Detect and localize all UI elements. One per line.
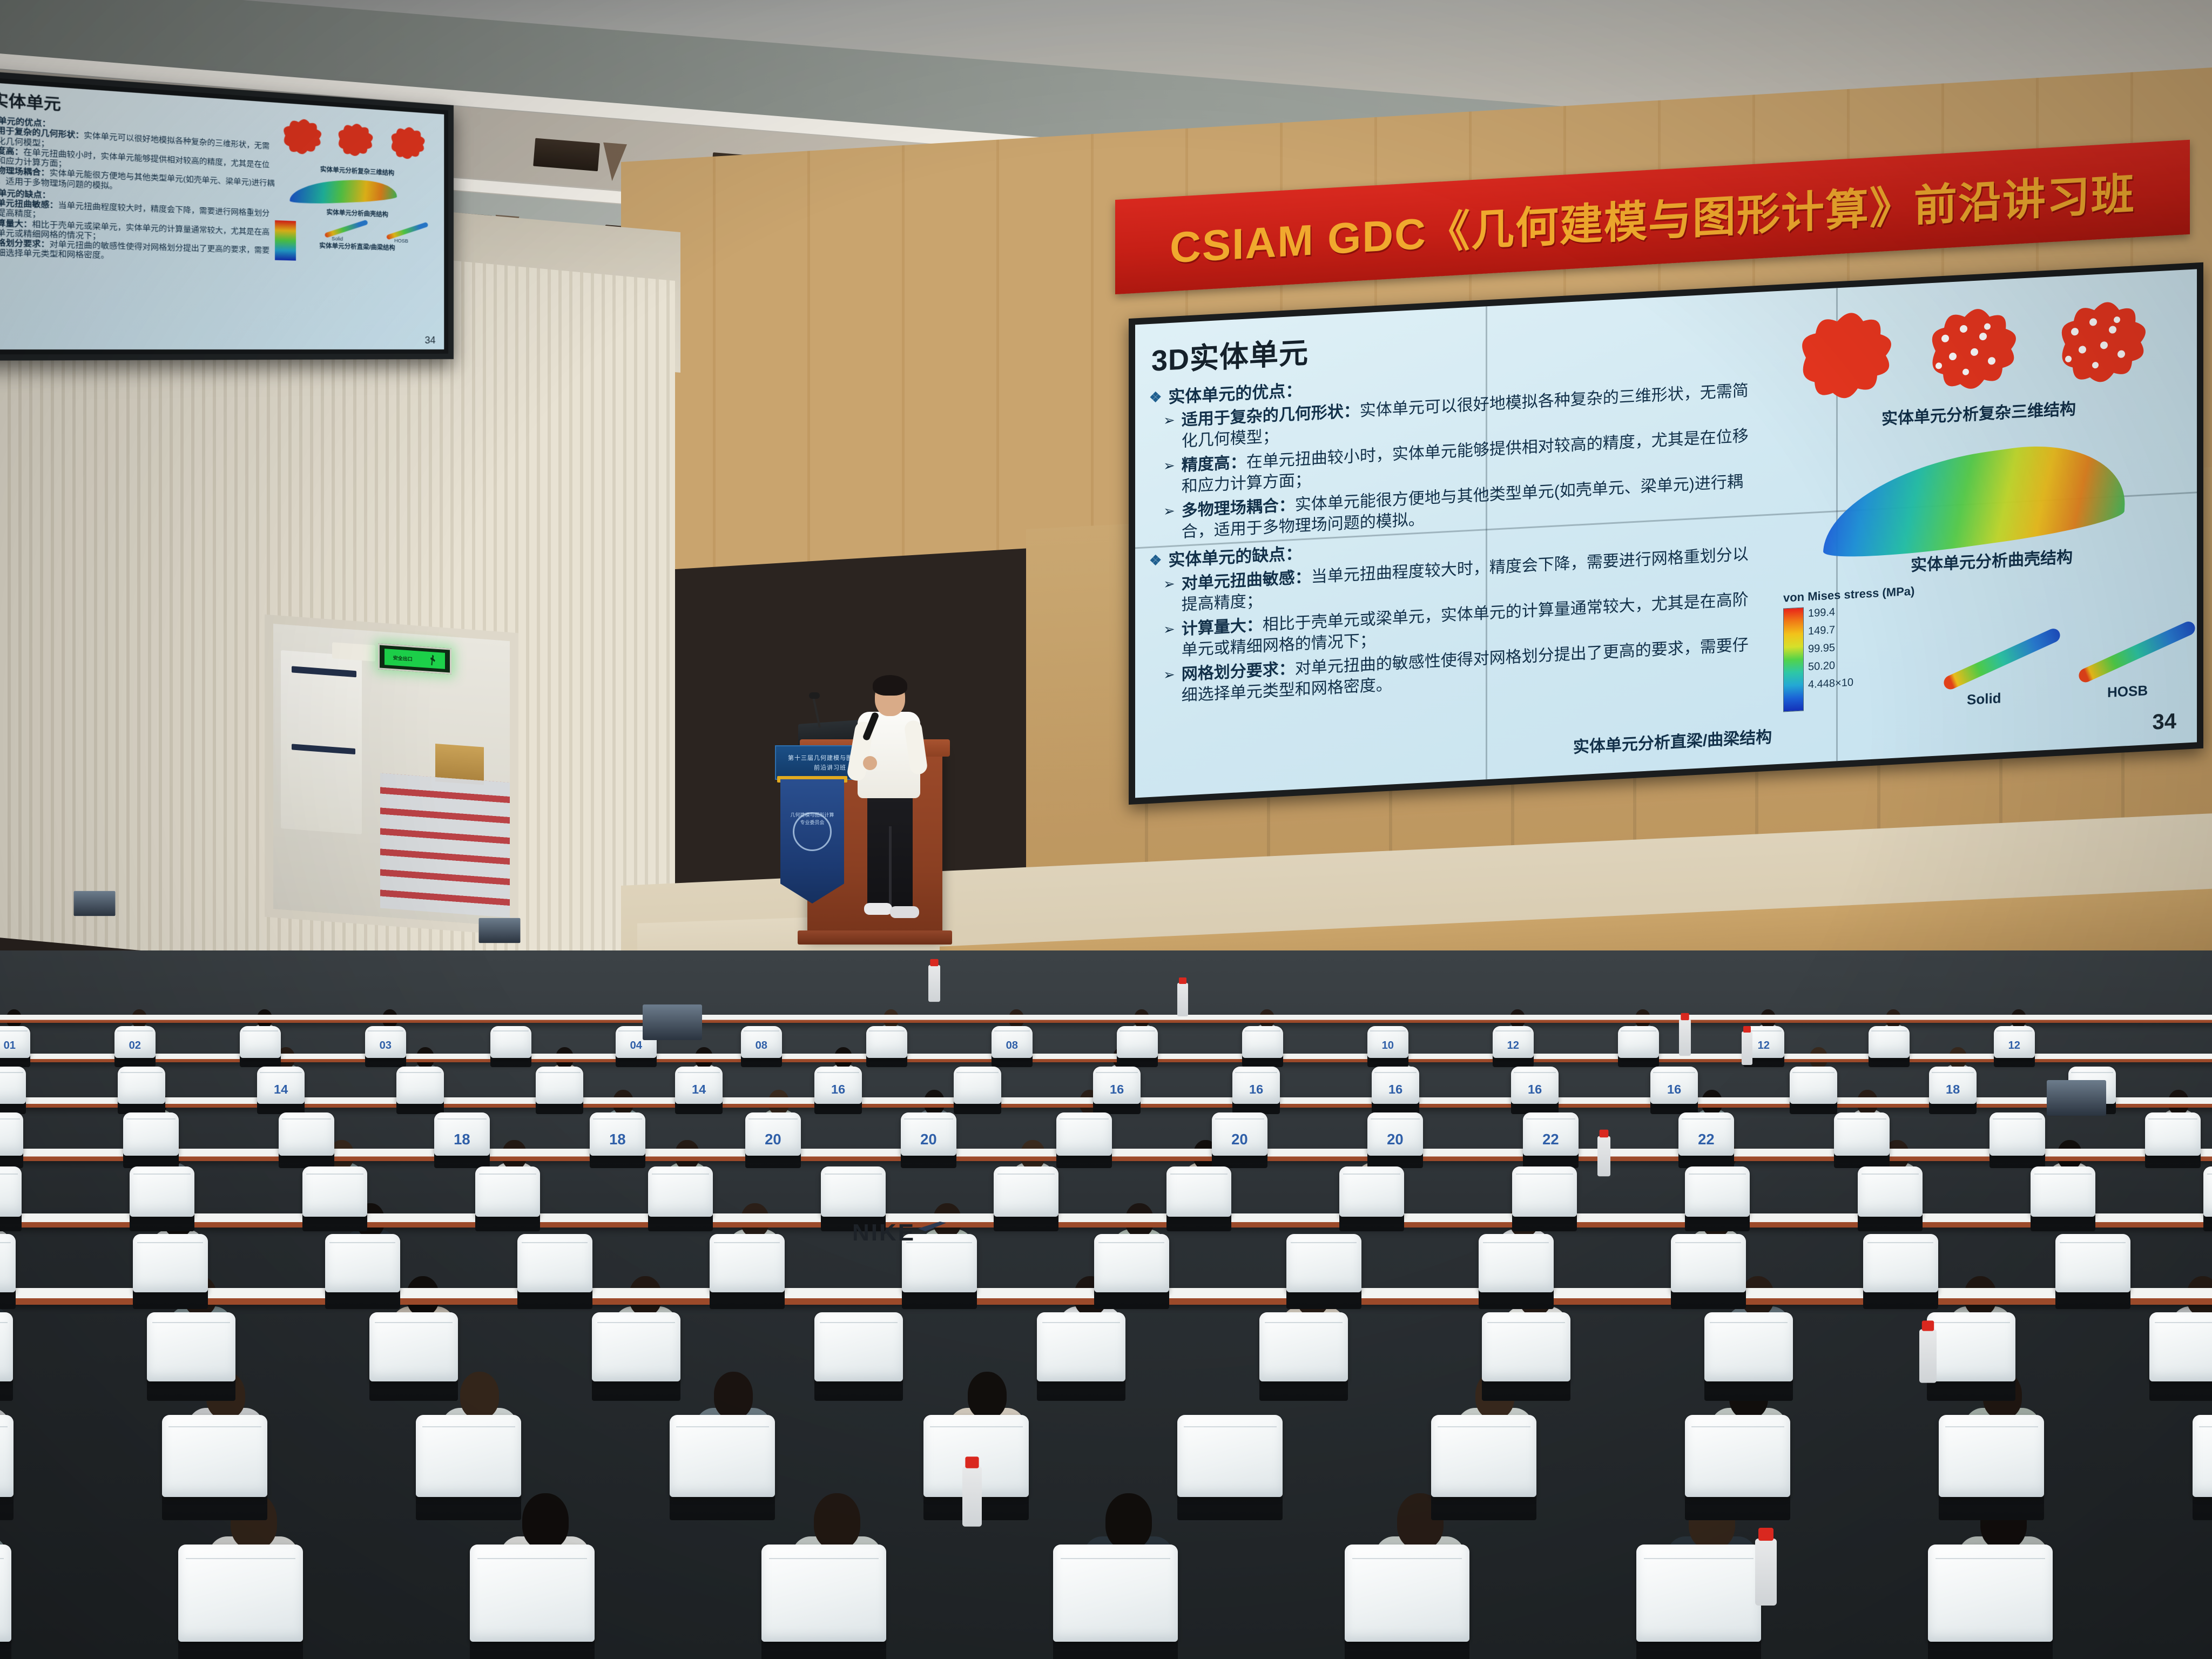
side-slide-page-number: 34: [425, 335, 436, 346]
auditorium-seat[interactable]: [123, 1112, 179, 1168]
auditorium-seat[interactable]: [1939, 1415, 2044, 1520]
seat-number: 16: [1093, 1082, 1141, 1097]
seat-cover: [2055, 1234, 2130, 1292]
auditorium-seat[interactable]: [475, 1166, 540, 1231]
seat-cover: [1242, 1026, 1283, 1058]
seat-cover: [1431, 1415, 1536, 1497]
seat-cover: [1053, 1545, 1178, 1642]
beam-hosb: [2077, 619, 2197, 685]
auditorium-seat[interactable]: [2145, 1112, 2201, 1168]
seat-cover: [325, 1234, 400, 1292]
podium-sign-line2: 前沿讲习班: [814, 763, 846, 772]
auditorium-seat[interactable]: [1790, 1067, 1837, 1114]
auditorium-seat[interactable]: 01: [0, 1026, 30, 1067]
seat-cover: [475, 1166, 540, 1217]
stress-legend: von Mises stress (MPa) 199.4 149.7 99.95…: [1783, 584, 1918, 712]
seat-number: 16: [814, 1082, 862, 1097]
seat-number: 20: [1367, 1131, 1423, 1148]
seat-cover: [1671, 1234, 1746, 1292]
seat-cover: [1928, 1545, 2053, 1642]
seat-cover: 20: [1212, 1112, 1267, 1156]
legend-tick: 149.7: [1808, 621, 1853, 640]
audience-laptop: [74, 891, 116, 916]
seat-cover: [123, 1112, 179, 1156]
legend-tick: 50.20: [1808, 656, 1853, 676]
seat-cover: [1117, 1026, 1158, 1058]
seat-cover: [648, 1166, 713, 1217]
auditorium-seat[interactable]: [240, 1026, 281, 1067]
auditorium-seat[interactable]: 16: [1511, 1067, 1559, 1114]
seat-cover: [147, 1312, 235, 1381]
pennant-text: 几何建模与图形计算 专业委员会: [780, 812, 844, 826]
seat-cover: [1927, 1312, 2015, 1381]
auditorium-seat[interactable]: 02: [114, 1026, 156, 1067]
seat-cover: [814, 1312, 903, 1381]
seat-number: 16: [1511, 1082, 1559, 1097]
seat-cover: [1858, 1166, 1923, 1217]
seat-cover: 20: [901, 1112, 956, 1156]
seat-cover: [2193, 1415, 2212, 1497]
seat-cover: [2145, 1112, 2201, 1156]
seat-cover: 12: [1994, 1026, 2035, 1058]
auditorium-seat[interactable]: [0, 1112, 23, 1168]
seat-number: 14: [257, 1082, 305, 1097]
audience-head: [714, 1372, 753, 1419]
audience-head: [1105, 1493, 1152, 1549]
legend-tick: 99.95: [1808, 638, 1853, 658]
auditorium-seat[interactable]: [1512, 1166, 1577, 1231]
seat-number: 12: [1493, 1040, 1534, 1052]
auditorium-seat[interactable]: [1990, 1112, 2045, 1168]
auditorium-seat[interactable]: 16: [1232, 1067, 1280, 1114]
seat-number: 16: [1650, 1082, 1698, 1097]
seat-number: 08: [741, 1040, 782, 1052]
fridge-handle: [292, 666, 356, 677]
seat-cover: [0, 1545, 11, 1642]
seat-cover: 20: [1367, 1112, 1423, 1156]
seat-cover: 22: [1523, 1112, 1579, 1156]
side-monitor: 3D实体单元 ❖实体单元的优点： ➢适用于复杂的几何形状：实体单元可以很好地模拟…: [0, 68, 454, 360]
arrow-bullet-icon: ➢: [1163, 664, 1175, 707]
auditorium-seat[interactable]: [470, 1545, 595, 1659]
side-slide-body: ❖实体单元的优点： ➢适用于复杂的几何形状：实体单元可以很好地模拟各种复杂的三维…: [0, 114, 275, 265]
seat-cover: 18: [1929, 1067, 1977, 1104]
auditorium-seat[interactable]: 18: [1929, 1067, 1977, 1114]
auditorium-seat[interactable]: [1259, 1312, 1348, 1401]
seat-cover: [1512, 1166, 1577, 1217]
seat-number: 12: [1994, 1040, 2035, 1052]
auditorium-seat[interactable]: 03: [365, 1026, 406, 1067]
seat-cover: [490, 1026, 531, 1058]
seat-cover: [118, 1067, 165, 1104]
auditorium-seat[interactable]: [954, 1067, 1001, 1114]
auditorium-seat[interactable]: 20: [745, 1112, 801, 1168]
auditorium-seat[interactable]: [1928, 1545, 2053, 1659]
emergency-light: [332, 642, 375, 662]
seat-cover: [1704, 1312, 1793, 1381]
auditorium-seat[interactable]: 20: [1212, 1112, 1267, 1168]
auditorium-seat[interactable]: [325, 1234, 400, 1309]
slide-page-number: 34: [2153, 709, 2177, 734]
auditorium-seat[interactable]: [592, 1312, 680, 1401]
exit-sign-label: 安全出口: [393, 654, 413, 663]
audience-laptop: [643, 1004, 702, 1040]
seat-cover: [2149, 1312, 2212, 1381]
auditorium-seat[interactable]: [0, 1312, 13, 1401]
water-bottle: [1919, 1329, 1937, 1382]
seat-number: 16: [1232, 1082, 1280, 1097]
audience-head: [814, 1493, 860, 1549]
auditorium-seat[interactable]: 16: [814, 1067, 862, 1114]
arrow-bullet-icon: ➢: [1163, 410, 1175, 453]
seat-cover: [1618, 1026, 1659, 1058]
seat-cover: 01: [0, 1026, 30, 1058]
auditorium-seat[interactable]: [369, 1312, 458, 1401]
auditorium-seat[interactable]: [994, 1166, 1058, 1231]
auditorium-seat[interactable]: 10: [1367, 1026, 1408, 1067]
seat-cover: [0, 1415, 14, 1497]
water-bottle: [1597, 1136, 1610, 1176]
auditorium-seat[interactable]: [1671, 1234, 1746, 1309]
auditorium-seat[interactable]: 08: [741, 1026, 782, 1067]
auditorium-seat[interactable]: [1618, 1026, 1659, 1067]
auditorium-seat[interactable]: [130, 1166, 194, 1231]
auditorium-seat[interactable]: [302, 1166, 367, 1231]
figure-complex-3d-structures: 实体单元分析复杂三维结构: [1773, 284, 2184, 441]
seat-cover: [954, 1067, 1001, 1104]
auditorium-seat[interactable]: 12: [1994, 1026, 2035, 1067]
auditorium-seat[interactable]: [2193, 1415, 2212, 1520]
seat-cover: [866, 1026, 907, 1058]
seat-cover: [240, 1026, 281, 1058]
auditorium-seat[interactable]: [396, 1067, 444, 1114]
auditorium-seat[interactable]: [1636, 1545, 1761, 1659]
auditorium-seat[interactable]: 14: [675, 1067, 723, 1114]
auditorium-seat[interactable]: [536, 1067, 583, 1114]
seat-cover: [1286, 1234, 1361, 1292]
seat-cover: [162, 1415, 267, 1497]
nike-shirt-logo: NIKE: [852, 1219, 915, 1246]
auditorium-seat[interactable]: [1431, 1415, 1536, 1520]
auditorium-seat[interactable]: [1053, 1545, 1178, 1659]
auditorium-seat[interactable]: [866, 1026, 907, 1067]
auditorium-seat[interactable]: 16: [1650, 1067, 1698, 1114]
speaker-leg-split: [889, 826, 892, 907]
seat-number: 02: [114, 1040, 156, 1052]
seat-cover: [1056, 1112, 1112, 1156]
water-bottle: [1177, 983, 1188, 1016]
auditorium-seat[interactable]: [133, 1234, 208, 1309]
seat-cover: [0, 1234, 16, 1292]
seat-cover: [1990, 1112, 2045, 1156]
auditorium-seat[interactable]: 20: [901, 1112, 956, 1168]
seat-cover: [1482, 1312, 1570, 1381]
auditorium-seat[interactable]: [178, 1545, 303, 1659]
seat-cover: 14: [257, 1067, 305, 1104]
seat-cover: 08: [992, 1026, 1033, 1058]
seat-number: 04: [616, 1040, 657, 1052]
seat-cover: [1863, 1234, 1938, 1292]
auditorium-seat[interactable]: [0, 1166, 22, 1231]
seat-cover: [536, 1067, 583, 1104]
seat-cover: [279, 1112, 334, 1156]
pennant: 几何建模与图形计算 专业委员会: [780, 779, 844, 903]
seat-number: 22: [1678, 1131, 1734, 1148]
auditorium-seat[interactable]: [2031, 1166, 2095, 1231]
seat-cover: [1790, 1067, 1837, 1104]
seat-cover: [133, 1234, 208, 1292]
auditorium-seat[interactable]: [0, 1415, 14, 1520]
auditorium-seat[interactable]: [648, 1166, 713, 1231]
auditorium-seat[interactable]: [670, 1415, 775, 1520]
seat-cover: [416, 1415, 521, 1497]
seat-cover: [470, 1545, 595, 1642]
auditorium-seat[interactable]: [1704, 1312, 1793, 1401]
seat-cover: [1166, 1166, 1231, 1217]
audience-laptop: [479, 918, 521, 943]
seat-cover: [178, 1545, 303, 1642]
auditorium-seat[interactable]: [2203, 1166, 2212, 1231]
auditorium-seat[interactable]: [1863, 1234, 1938, 1309]
exit-sign: 安全出口: [378, 643, 451, 675]
beam-label-hosb: HOSB: [2107, 682, 2148, 701]
seat-cover: 10: [1367, 1026, 1408, 1058]
auditorium-seat[interactable]: 08: [992, 1026, 1033, 1067]
seat-number: 10: [1367, 1040, 1408, 1052]
seat-cover: 12: [1493, 1026, 1534, 1058]
auditorium-seat[interactable]: [0, 1234, 16, 1309]
seat-cover: [1636, 1545, 1761, 1642]
auditorium-seat[interactable]: [416, 1415, 521, 1520]
arrow-bullet-icon: ➢: [1163, 501, 1175, 544]
auditorium-seat[interactable]: 14: [257, 1067, 305, 1114]
auditorium-seat[interactable]: [0, 1067, 26, 1114]
presentation-slide: 3D实体单元 ❖ 实体单元的优点： ➢ 适用于复杂的几何形状：实体单元可以很好地…: [1135, 269, 2197, 798]
auditorium-seat[interactable]: 16: [1093, 1067, 1141, 1114]
legend-tick: 199.4: [1808, 603, 1853, 623]
speaker-hand: [863, 756, 877, 770]
side-monitor-slide: 3D实体单元 ❖实体单元的优点： ➢适用于复杂的几何形状：实体单元可以很好地模拟…: [0, 80, 444, 349]
podium-base: [798, 930, 952, 945]
side-figure-blobs: 实体单元分析复杂三维结构 实体单元分析曲壳结构 Solid HOSB 实体单元分…: [271, 110, 440, 187]
seat-cover: [710, 1234, 785, 1292]
auditorium-seat[interactable]: [1927, 1312, 2015, 1401]
seat-number: 08: [992, 1040, 1033, 1052]
seat-cover: [0, 1067, 26, 1104]
auditorium-seat[interactable]: [162, 1415, 267, 1520]
seat-cover: [1685, 1415, 1790, 1497]
water-bottle: [928, 965, 940, 1002]
auditorium-seat[interactable]: 22: [1523, 1112, 1579, 1168]
seat-cover: 02: [114, 1026, 156, 1058]
seat-number: 20: [901, 1131, 956, 1148]
figure-curved-shell: 实体单元分析曲壳结构: [1803, 432, 2181, 576]
legend-title: von Mises stress (MPa): [1783, 584, 1918, 605]
seat-cover: [994, 1166, 1058, 1217]
fridge-handle: [292, 744, 355, 754]
auditorium-seat[interactable]: 16: [1372, 1067, 1419, 1114]
seat-number: 03: [365, 1040, 406, 1052]
speaker-shoe: [864, 903, 892, 915]
audience-head: [522, 1493, 569, 1549]
seat-cover: [761, 1545, 886, 1642]
seat-cover: [0, 1166, 22, 1217]
auditorium-seat[interactable]: 18: [434, 1112, 490, 1168]
auditorium-seat[interactable]: [147, 1312, 235, 1401]
seat-cover: [517, 1234, 592, 1292]
seat-cover: 16: [814, 1067, 862, 1104]
water-bottle: [1755, 1539, 1777, 1606]
speaker-hair: [873, 675, 907, 696]
beam-label-solid: Solid: [1967, 690, 2001, 708]
auditorium-seat[interactable]: 18: [590, 1112, 645, 1168]
auditorium-seat[interactable]: [0, 1545, 11, 1659]
seat-cover: [821, 1166, 886, 1217]
seat-cover: 03: [365, 1026, 406, 1058]
seat-cover: 20: [745, 1112, 801, 1156]
seat-cover: [1834, 1112, 1890, 1156]
auditorium-seat[interactable]: [1685, 1166, 1750, 1231]
seat-cover: [369, 1312, 458, 1381]
seat-cover: 14: [675, 1067, 723, 1104]
legend-ticks: 199.4 149.7 99.95 50.20 4.448×10: [1808, 603, 1853, 694]
audience-laptop: [2047, 1080, 2106, 1116]
auditorium-seat[interactable]: [2055, 1234, 2130, 1309]
seat-cover: [1345, 1545, 1469, 1642]
seat-number: 18: [590, 1131, 645, 1148]
arrow-bullet-icon: ➢: [1163, 456, 1175, 498]
auditorium-seat[interactable]: [1858, 1166, 1923, 1231]
seat-cover: 16: [1093, 1067, 1141, 1104]
running-person-icon: [429, 655, 436, 666]
auditorium-seat[interactable]: [1177, 1415, 1283, 1520]
refrigerator: [281, 650, 362, 834]
speaker-shoe: [890, 906, 919, 918]
auditorium-seat[interactable]: [1339, 1166, 1404, 1231]
auditorium-seat[interactable]: [1834, 1112, 1890, 1168]
auditorium-seat[interactable]: [490, 1026, 531, 1067]
auditorium-seat[interactable]: [1479, 1234, 1554, 1309]
auditorium-seat[interactable]: 22: [1678, 1112, 1734, 1168]
led-video-wall: 3D实体单元 ❖ 实体单元的优点： ➢ 适用于复杂的几何形状：实体单元可以很好地…: [1129, 262, 2203, 805]
auditorium-seat[interactable]: [1345, 1545, 1469, 1659]
seat-number: 20: [745, 1131, 801, 1148]
seat-number: 14: [675, 1082, 723, 1097]
seat-cover: [1259, 1312, 1348, 1381]
beam-solid: [1942, 626, 2062, 692]
auditorium-seat[interactable]: 20: [1367, 1112, 1423, 1168]
audience-head: [460, 1372, 500, 1419]
auditorium-seat[interactable]: [1056, 1112, 1112, 1168]
seat-number: 20: [1212, 1131, 1267, 1148]
seat-cover: [592, 1312, 680, 1381]
auditorium-seat[interactable]: [118, 1067, 165, 1114]
seat-cover: [1339, 1166, 1404, 1217]
seat-cover: [1177, 1415, 1283, 1497]
auditorium-seat[interactable]: [1242, 1026, 1283, 1067]
ceiling-lamp: [533, 138, 600, 171]
seat-cover: 16: [1511, 1067, 1559, 1104]
auditorium-seat[interactable]: [761, 1545, 886, 1659]
seat-cover: [396, 1067, 444, 1104]
auditorium-seat[interactable]: [2149, 1312, 2212, 1401]
seat-cover: [302, 1166, 367, 1217]
water-bottle: [1742, 1031, 1752, 1065]
seat-cover: 18: [434, 1112, 490, 1156]
seat-cover: 16: [1232, 1067, 1280, 1104]
seat-number: 22: [1523, 1131, 1579, 1148]
auditorium-seat[interactable]: [1482, 1312, 1570, 1401]
auditorium-seat[interactable]: [1685, 1415, 1790, 1520]
seat-number: 01: [0, 1040, 30, 1052]
slide-body: ❖ 实体单元的优点： ➢ 适用于复杂的几何形状：实体单元可以很好地模拟各种复杂的…: [1149, 356, 1759, 711]
auditorium-seat[interactable]: [1094, 1234, 1169, 1309]
legend-tick: 4.448×10: [1808, 674, 1853, 694]
seat-cover: [1037, 1312, 1125, 1381]
side-beam-label-solid: Solid: [332, 236, 343, 242]
auditorium-seat[interactable]: [279, 1112, 334, 1168]
seat-cover: 22: [1678, 1112, 1734, 1156]
water-bottle-cases: [380, 773, 510, 918]
seat-cover: [130, 1166, 194, 1217]
diamond-bullet-icon: ❖: [1149, 387, 1162, 410]
side-beam-label-hosb: HOSB: [394, 238, 408, 244]
auditorium-seat[interactable]: [710, 1234, 785, 1309]
diamond-bullet-icon: ❖: [1149, 550, 1162, 573]
arrow-bullet-icon: ➢: [1163, 574, 1175, 616]
seat-number: 18: [434, 1131, 490, 1148]
audience-head: [968, 1372, 1007, 1419]
auditorium-seat[interactable]: [517, 1234, 592, 1309]
auditorium-seat[interactable]: [1037, 1312, 1125, 1401]
seat-cover: [1479, 1234, 1554, 1292]
seat-cover: [1685, 1166, 1750, 1217]
seat-cover: [0, 1312, 13, 1381]
legend-colorbar: [1783, 607, 1804, 712]
seat-cover: 16: [1650, 1067, 1698, 1104]
seat-cover: 18: [590, 1112, 645, 1156]
seat-cover: 16: [1372, 1067, 1419, 1104]
seat-cover: [0, 1112, 23, 1156]
auditorium-seat[interactable]: [1166, 1166, 1231, 1231]
auditorium-seat[interactable]: [1117, 1026, 1158, 1067]
seat-cover: [2203, 1166, 2212, 1217]
seat-number: 16: [1372, 1082, 1419, 1097]
auditorium-seat[interactable]: [1286, 1234, 1361, 1309]
water-bottle: [1679, 1019, 1691, 1056]
seat-cover: [1094, 1234, 1169, 1292]
seat-cover: [1869, 1026, 1910, 1058]
arrow-bullet-icon: ➢: [1163, 619, 1175, 662]
microphone-icon: [809, 692, 820, 699]
auditorium-seat[interactable]: [814, 1312, 903, 1401]
lecture-hall-photo: CSIAM GDC《几何建模与图形计算》前沿讲习班 3D实体单元 ❖ 实体单元的…: [0, 0, 2212, 1659]
audience-desk: [0, 1015, 2212, 1022]
auditorium-seat[interactable]: [1869, 1026, 1910, 1067]
seat-cover: 08: [741, 1026, 782, 1058]
water-bottle: [962, 1466, 982, 1527]
auditorium-seat[interactable]: 12: [1493, 1026, 1534, 1067]
seat-cover: [1939, 1415, 2044, 1497]
seat-cover: [2031, 1166, 2095, 1217]
seat-cover: [670, 1415, 775, 1497]
seat-number: 18: [1929, 1082, 1977, 1097]
